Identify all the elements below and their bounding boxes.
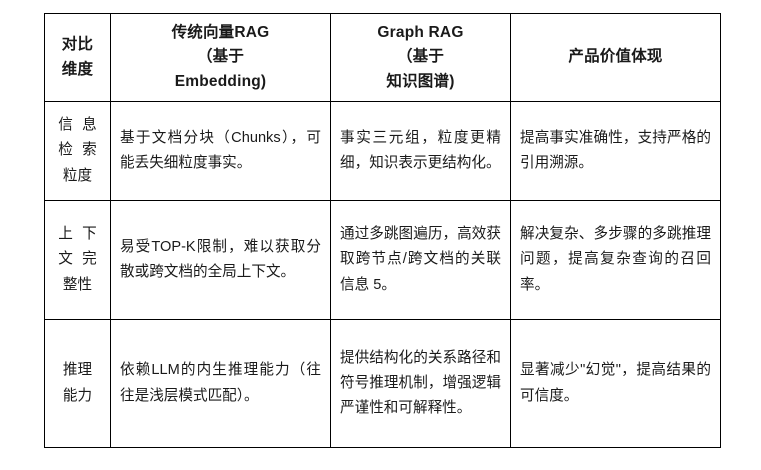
page-root: 对比 维度 传统向量RAG （基于 Embedding) Graph RAG （…	[0, 0, 761, 470]
header-cell-graph-rag: Graph RAG （基于 知识图谱)	[331, 14, 511, 102]
row-1-product-value-text: 提高事实准确性，支持严格的引用溯源。	[511, 123, 720, 179]
row-2-dimension-line-2: 文 完	[48, 247, 107, 272]
row-3-cell-dimension: 推理 能力	[45, 320, 111, 448]
row-1-vector-rag-text: 基于文档分块（Chunks），可能丢失细粒度事实。	[111, 123, 330, 179]
row-3-cell-graph-rag: 提供结构化的关系路径和符号推理机制，增强逻辑严谨性和可解释性。	[331, 320, 511, 448]
table-row: 上 下 文 完 整性 易受TOP-K限制，难以获取分散或跨文档的全局上下文。 通…	[45, 201, 721, 320]
row-1-dimension-text: 信 息 检 索 粒度	[45, 110, 110, 191]
row-3-cell-product-value: 显著减少"幻觉"，提高结果的可信度。	[511, 320, 721, 448]
header-product-value-line-1: 产品价值体现	[515, 45, 716, 69]
header-dimension-line-1: 对比	[49, 33, 106, 57]
header-vector-rag-text: 传统向量RAG （基于 Embedding)	[111, 19, 330, 95]
row-1-dimension-line-2: 检 索	[48, 138, 107, 163]
row-1-graph-rag-text: 事实三元组，粒度更精细，知识表示更结构化。	[331, 123, 510, 179]
header-dimension-line-2: 维度	[49, 58, 106, 82]
row-3-product-value-text: 显著减少"幻觉"，提高结果的可信度。	[511, 355, 720, 411]
row-1-dimension-line-1: 信 息	[48, 113, 107, 138]
comparison-table: 对比 维度 传统向量RAG （基于 Embedding) Graph RAG （…	[44, 13, 721, 448]
row-2-cell-vector-rag: 易受TOP-K限制，难以获取分散或跨文档的全局上下文。	[111, 201, 331, 320]
row-1-cell-graph-rag: 事实三元组，粒度更精细，知识表示更结构化。	[331, 102, 511, 201]
header-product-value-text: 产品价值体现	[511, 43, 720, 71]
header-graph-rag-line-2: （基于	[335, 45, 506, 69]
row-2-cell-graph-rag: 通过多跳图遍历，高效获取跨节点/跨文档的关联信息 5。	[331, 201, 511, 320]
table-row: 信 息 检 索 粒度 基于文档分块（Chunks），可能丢失细粒度事实。 事实三…	[45, 102, 721, 201]
row-3-cell-vector-rag: 依赖LLM的内生推理能力（往往是浅层模式匹配）。	[111, 320, 331, 448]
row-2-dimension-line-3: 整性	[48, 273, 107, 298]
header-vector-rag-line-2: （基于	[115, 45, 326, 69]
row-1-cell-product-value: 提高事实准确性，支持严格的引用溯源。	[511, 102, 721, 201]
row-2-graph-rag-text: 通过多跳图遍历，高效获取跨节点/跨文档的关联信息 5。	[331, 219, 510, 300]
header-graph-rag-text: Graph RAG （基于 知识图谱)	[331, 19, 510, 95]
row-3-dimension-line-2: 能力	[48, 384, 107, 409]
row-3-vector-rag-text: 依赖LLM的内生推理能力（往往是浅层模式匹配）。	[111, 355, 330, 411]
row-1-cell-vector-rag: 基于文档分块（Chunks），可能丢失细粒度事实。	[111, 102, 331, 201]
row-2-dimension-text: 上 下 文 完 整性	[45, 219, 110, 300]
row-3-graph-rag-text: 提供结构化的关系路径和符号推理机制，增强逻辑严谨性和可解释性。	[331, 343, 510, 424]
header-vector-rag-line-1: 传统向量RAG	[115, 21, 326, 45]
header-graph-rag-line-1: Graph RAG	[335, 21, 506, 45]
row-1-cell-dimension: 信 息 检 索 粒度	[45, 102, 111, 201]
row-1-dimension-line-3: 粒度	[48, 164, 107, 189]
header-vector-rag-line-3: Embedding)	[115, 70, 326, 94]
row-2-dimension-line-1: 上 下	[48, 222, 107, 247]
header-dimension-text: 对比 维度	[45, 31, 110, 83]
row-2-cell-product-value: 解决复杂、多步骤的多跳推理问题，提高复杂查询的召回率。	[511, 201, 721, 320]
header-cell-vector-rag: 传统向量RAG （基于 Embedding)	[111, 14, 331, 102]
header-graph-rag-line-3: 知识图谱)	[335, 70, 506, 94]
row-3-dimension-text: 推理 能力	[45, 355, 110, 411]
header-cell-product-value: 产品价值体现	[511, 14, 721, 102]
table-row: 推理 能力 依赖LLM的内生推理能力（往往是浅层模式匹配）。 提供结构化的关系路…	[45, 320, 721, 448]
row-2-product-value-text: 解决复杂、多步骤的多跳推理问题，提高复杂查询的召回率。	[511, 219, 720, 300]
table-header-row: 对比 维度 传统向量RAG （基于 Embedding) Graph RAG （…	[45, 14, 721, 102]
row-2-cell-dimension: 上 下 文 完 整性	[45, 201, 111, 320]
row-3-dimension-line-1: 推理	[48, 358, 107, 383]
header-cell-dimension: 对比 维度	[45, 14, 111, 102]
row-2-vector-rag-text: 易受TOP-K限制，难以获取分散或跨文档的全局上下文。	[111, 232, 330, 288]
